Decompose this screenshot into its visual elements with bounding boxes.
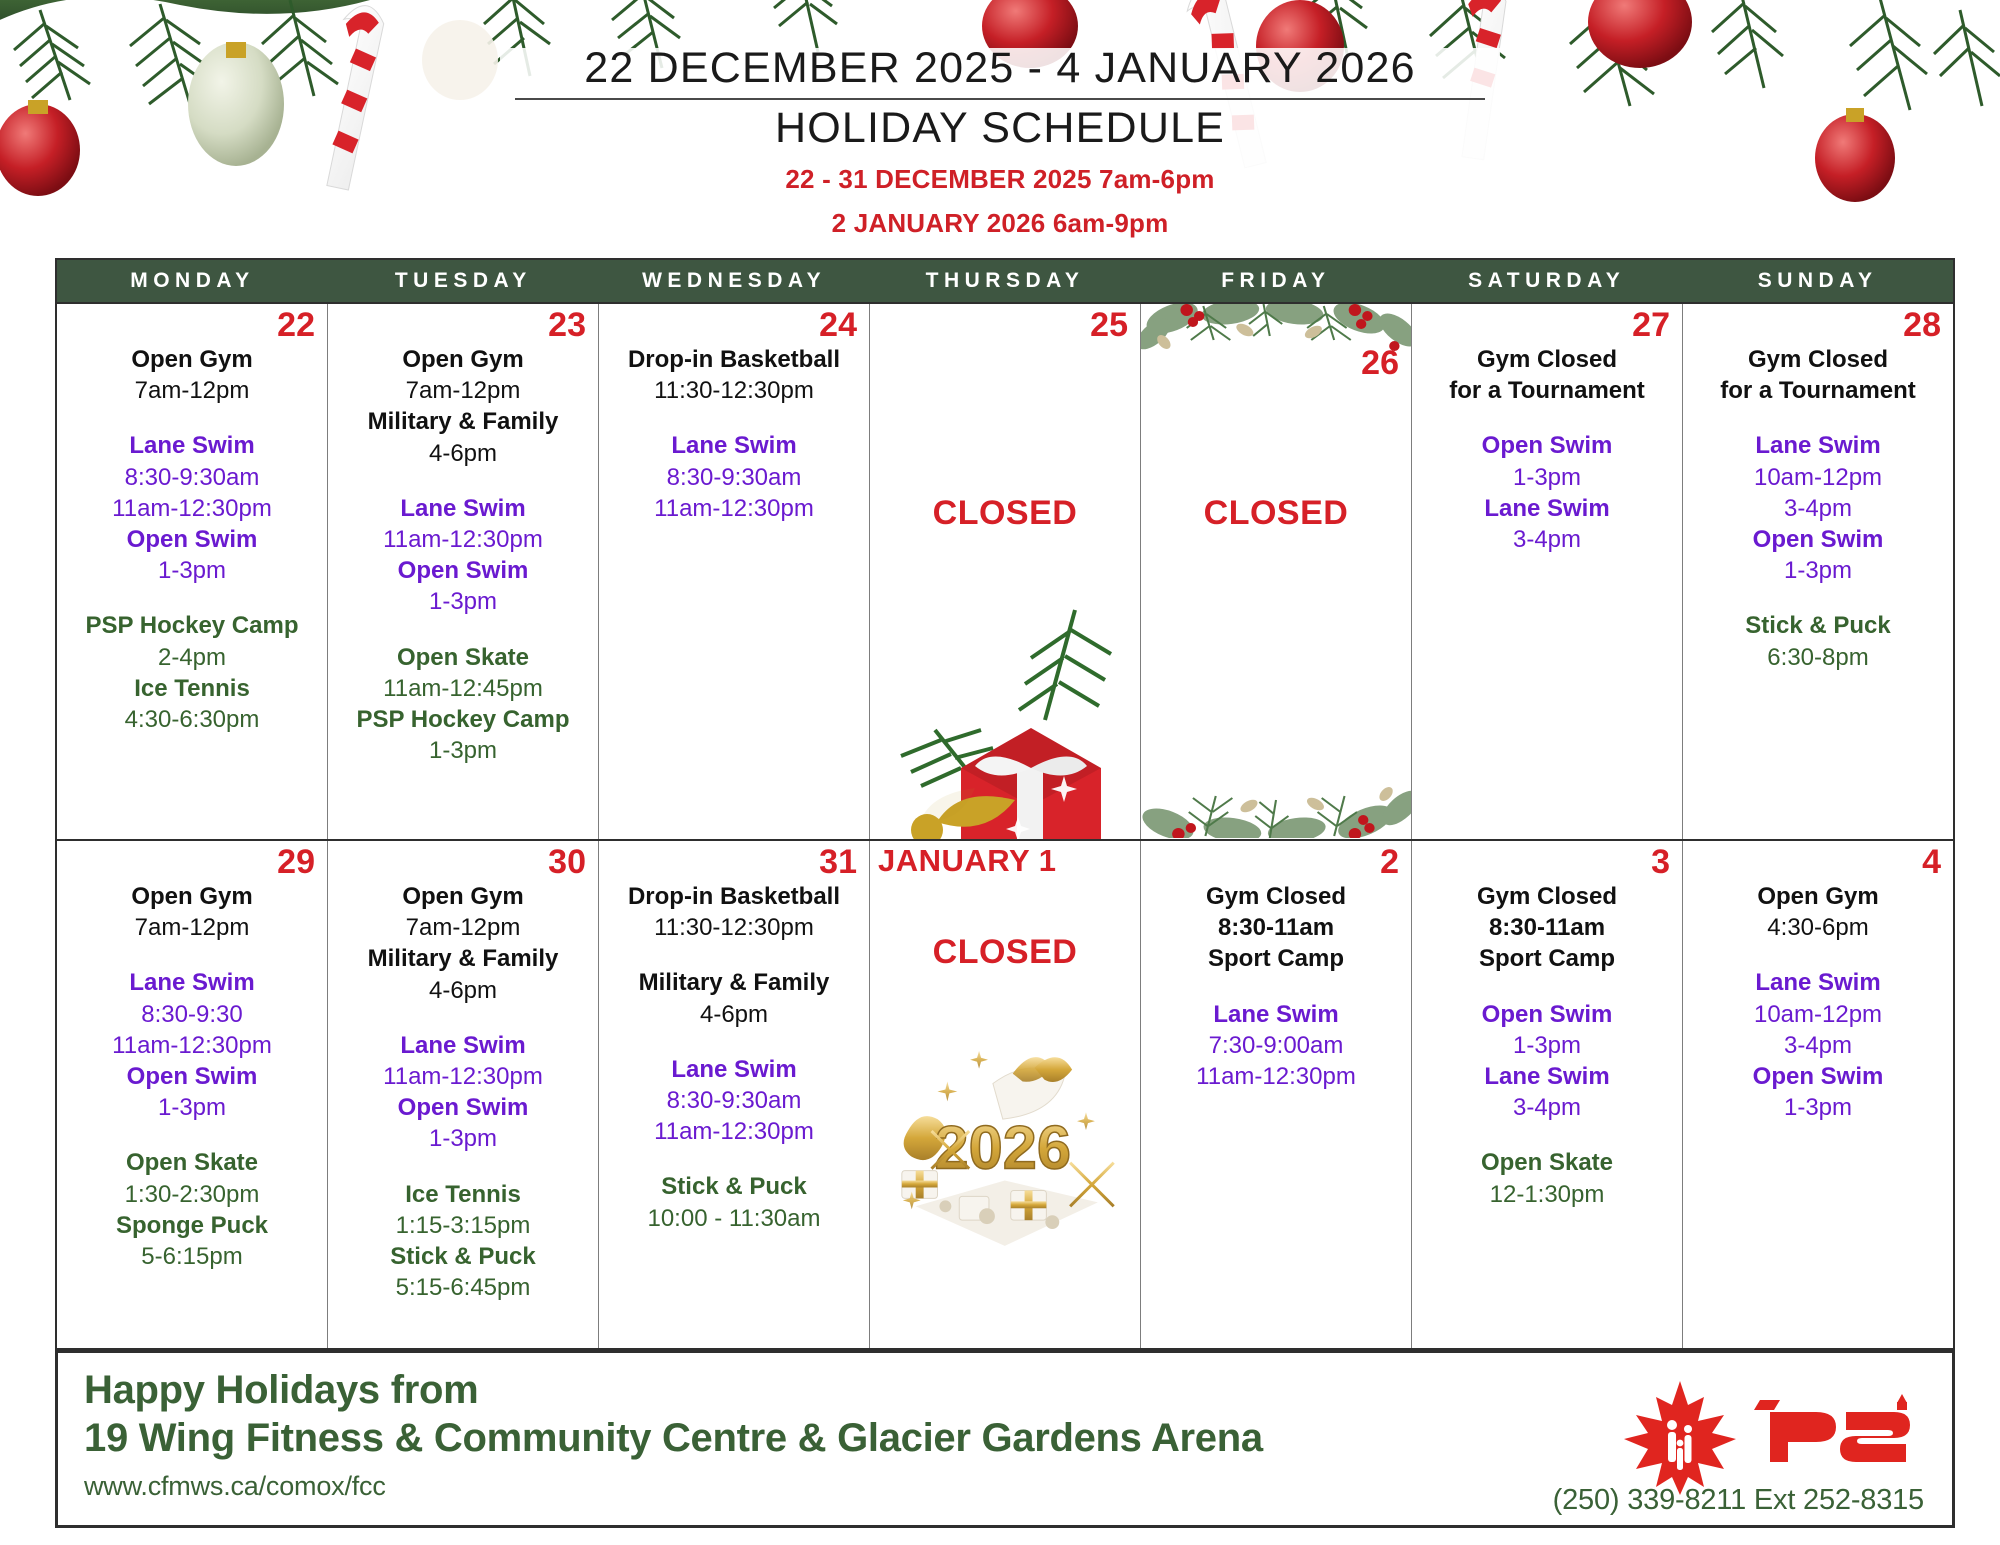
activity-spacer bbox=[1687, 943, 1949, 967]
activity-line: 8:30-9:30am bbox=[61, 462, 323, 493]
header-banner: 22 DECEMBER 2025 - 4 JANUARY 2026 HOLIDA… bbox=[0, 0, 2000, 258]
gym-activities: Open Gym7am-12pm bbox=[61, 881, 323, 943]
gym-activities: Drop-in Basketball11:30-12:30pm bbox=[603, 344, 865, 406]
activity-line: 8:30-11am bbox=[1416, 912, 1678, 943]
day-number: 26 bbox=[1361, 346, 1399, 382]
activity-line: Open Skate bbox=[61, 1147, 323, 1178]
activity-line: Open Swim bbox=[332, 1092, 594, 1123]
activity-spacer bbox=[603, 1030, 865, 1054]
closed-label: CLOSED bbox=[874, 344, 1136, 533]
activity-line: 1-3pm bbox=[332, 735, 594, 766]
calendar-day-cell[interactable]: 24Drop-in Basketball11:30-12:30pmLane Sw… bbox=[599, 304, 870, 839]
day-number: 23 bbox=[548, 308, 586, 344]
day-activities: Open Gym4:30-6pmLane Swim10am-12pm3-4pmO… bbox=[1687, 847, 1949, 1123]
activity-line: 1:30-2:30pm bbox=[61, 1179, 323, 1210]
activity-spacer bbox=[332, 1006, 594, 1030]
day-number: 25 bbox=[1090, 308, 1128, 344]
activity-spacer bbox=[603, 1147, 865, 1171]
activity-line: Military & Family bbox=[603, 967, 865, 998]
calendar-table: MONDAY TUESDAY WEDNESDAY THURSDAY FRIDAY… bbox=[55, 258, 1955, 1350]
gym-activities: Drop-in Basketball11:30-12:30pmMilitary … bbox=[603, 881, 865, 1030]
activity-line: 10am-12pm bbox=[1687, 462, 1949, 493]
activity-line: 3-4pm bbox=[1416, 1092, 1678, 1123]
date-range-title: 22 DECEMBER 2025 - 4 JANUARY 2026 bbox=[500, 42, 1500, 94]
new-year-2026-decoration: 2026 bbox=[886, 1011, 1124, 1266]
pool-activities: Open Swim1-3pmLane Swim3-4pm bbox=[1416, 430, 1678, 555]
day-number: 2 bbox=[1380, 845, 1399, 881]
activity-line: 4-6pm bbox=[332, 438, 594, 469]
gym-activities: Open Gym7am-12pm bbox=[61, 344, 323, 406]
activity-line: Military & Family bbox=[332, 943, 594, 974]
activity-line: 7am-12pm bbox=[61, 912, 323, 943]
activity-line: Gym Closed bbox=[1145, 881, 1407, 912]
day-number: 31 bbox=[819, 845, 857, 881]
activity-line: Open Gym bbox=[61, 881, 323, 912]
activity-spacer bbox=[1145, 975, 1407, 999]
activity-line: 3-4pm bbox=[1687, 1030, 1949, 1061]
day-activities: Gym Closed8:30-11amSport CampOpen Swim1-… bbox=[1416, 847, 1678, 1210]
activity-spacer bbox=[1416, 1123, 1678, 1147]
activity-line: 10am-12pm bbox=[1687, 999, 1949, 1030]
weekday-wednesday: WEDNESDAY bbox=[599, 260, 870, 302]
activity-line: Drop-in Basketball bbox=[603, 881, 865, 912]
day-number: JANUARY 1 bbox=[878, 845, 1057, 878]
arena-activities: Open Skate12-1:30pm bbox=[1416, 1147, 1678, 1209]
activity-line: Open Swim bbox=[61, 1061, 323, 1092]
activity-line: Open Skate bbox=[332, 642, 594, 673]
activity-line: Open Swim bbox=[1687, 1061, 1949, 1092]
activity-line: 1:15-3:15pm bbox=[332, 1210, 594, 1241]
day-activities: Open Gym7am-12pmMilitary & Family4-6pmLa… bbox=[332, 847, 594, 1303]
day-activities: Open Gym7am-12pmMilitary & Family4-6pmLa… bbox=[332, 310, 594, 766]
activity-line: 11am-12:30pm bbox=[603, 1116, 865, 1147]
activity-line: Gym Closed bbox=[1416, 344, 1678, 375]
activity-line: Lane Swim bbox=[61, 967, 323, 998]
activity-line: 7:30-9:00am bbox=[1145, 1030, 1407, 1061]
hours-line-december: 22 - 31 DECEMBER 2025 7am-6pm bbox=[500, 161, 1500, 199]
activity-line: 5-6:15pm bbox=[61, 1241, 323, 1272]
weekday-monday: MONDAY bbox=[57, 260, 328, 302]
activity-line: Lane Swim bbox=[1145, 999, 1407, 1030]
activity-spacer bbox=[1416, 975, 1678, 999]
day-activities: Gym Closed8:30-11amSport CampLane Swim7:… bbox=[1145, 847, 1407, 1092]
activity-line: Lane Swim bbox=[1416, 1061, 1678, 1092]
activity-spacer bbox=[332, 469, 594, 493]
activity-line: 4-6pm bbox=[332, 975, 594, 1006]
activity-line: 11:30-12:30pm bbox=[603, 375, 865, 406]
activity-line: 11am-12:30pm bbox=[332, 1061, 594, 1092]
day-activities: Open Gym7am-12pmLane Swim8:30-9:3011am-1… bbox=[61, 847, 323, 1272]
activity-line: Gym Closed bbox=[1687, 344, 1949, 375]
activity-line: Ice Tennis bbox=[61, 673, 323, 704]
activity-line: 1-3pm bbox=[1687, 555, 1949, 586]
activity-spacer bbox=[1416, 406, 1678, 430]
gym-activities: Open Gym4:30-6pm bbox=[1687, 881, 1949, 943]
activity-line: Open Swim bbox=[1416, 999, 1678, 1030]
activity-line: 7am-12pm bbox=[61, 375, 323, 406]
calendar-day-cell[interactable]: 3Gym Closed8:30-11amSport CampOpen Swim1… bbox=[1412, 841, 1683, 1348]
pool-activities: Lane Swim8:30-9:30am11am-12:30pmOpen Swi… bbox=[61, 430, 323, 586]
activity-line: Sponge Puck bbox=[61, 1210, 323, 1241]
arena-activities: Stick & Puck6:30-8pm bbox=[1687, 610, 1949, 672]
activity-line: Stick & Puck bbox=[332, 1241, 594, 1272]
title-block: 22 DECEMBER 2025 - 4 JANUARY 2026 HOLIDA… bbox=[500, 42, 1500, 242]
calendar-day-cell[interactable]: 31Drop-in Basketball11:30-12:30pmMilitar… bbox=[599, 841, 870, 1348]
activity-spacer bbox=[1687, 406, 1949, 430]
arena-activities: PSP Hockey Camp2-4pmIce Tennis4:30-6:30p… bbox=[61, 610, 323, 735]
activity-line: Sport Camp bbox=[1416, 943, 1678, 974]
footer-panel: Happy Holidays from 19 Wing Fitness & Co… bbox=[55, 1350, 1955, 1528]
pool-activities: Lane Swim10am-12pm3-4pmOpen Swim1-3pm bbox=[1687, 967, 1949, 1123]
activity-line: 1-3pm bbox=[1416, 1030, 1678, 1061]
activity-line: Lane Swim bbox=[603, 430, 865, 461]
calendar-day-cell[interactable]: 29Open Gym7am-12pmLane Swim8:30-9:3011am… bbox=[57, 841, 328, 1348]
pool-activities: Lane Swim10am-12pm3-4pmOpen Swim1-3pm bbox=[1687, 430, 1949, 586]
activity-line: 11:30-12:30pm bbox=[603, 912, 865, 943]
calendar-day-cell[interactable]: 23Open Gym7am-12pmMilitary & Family4-6pm… bbox=[328, 304, 599, 839]
activity-line: 4-6pm bbox=[603, 999, 865, 1030]
activity-line: Open Swim bbox=[61, 524, 323, 555]
pool-activities: Lane Swim7:30-9:00am11am-12:30pm bbox=[1145, 999, 1407, 1093]
calendar-day-cell[interactable]: 28Gym Closedfor a TournamentLane Swim10a… bbox=[1683, 304, 1953, 839]
activity-line: 11am-12:30pm bbox=[603, 493, 865, 524]
activity-line: Lane Swim bbox=[1687, 430, 1949, 461]
activity-line: Open Swim bbox=[332, 555, 594, 586]
page-title: HOLIDAY SCHEDULE bbox=[500, 102, 1500, 154]
day-activities: Drop-in Basketball11:30-12:30pmMilitary … bbox=[603, 847, 865, 1234]
day-number: 29 bbox=[277, 845, 315, 881]
gift-box-decoration bbox=[870, 600, 1130, 839]
hours-line-january: 2 JANUARY 2026 6am-9pm bbox=[500, 205, 1500, 243]
activity-line: for a Tournament bbox=[1416, 375, 1678, 406]
weekday-tuesday: TUESDAY bbox=[328, 260, 599, 302]
pool-activities: Lane Swim8:30-9:30am11am-12:30pm bbox=[603, 1054, 865, 1148]
activity-line: 1-3pm bbox=[61, 1092, 323, 1123]
activity-line: PSP Hockey Camp bbox=[332, 704, 594, 735]
activity-line: 1-3pm bbox=[332, 586, 594, 617]
activity-line: 2-4pm bbox=[61, 642, 323, 673]
activity-spacer bbox=[332, 618, 594, 642]
calendar-day-cell[interactable]: 4Open Gym4:30-6pmLane Swim10am-12pm3-4pm… bbox=[1683, 841, 1953, 1348]
activity-spacer bbox=[332, 1155, 594, 1179]
arena-activities: Ice Tennis1:15-3:15pmStick & Puck5:15-6:… bbox=[332, 1179, 594, 1304]
weekday-friday: FRIDAY bbox=[1140, 260, 1411, 302]
activity-line: 3-4pm bbox=[1416, 524, 1678, 555]
activity-line: 7am-12pm bbox=[332, 912, 594, 943]
gym-activities: Gym Closed8:30-11amSport Camp bbox=[1416, 881, 1678, 975]
gym-activities: Gym Closedfor a Tournament bbox=[1687, 344, 1949, 406]
activity-line: 5:15-6:45pm bbox=[332, 1272, 594, 1303]
weekday-thursday: THURSDAY bbox=[870, 260, 1141, 302]
activity-line: Drop-in Basketball bbox=[603, 344, 865, 375]
activity-line: Open Gym bbox=[1687, 881, 1949, 912]
activity-spacer bbox=[61, 406, 323, 430]
activity-line: 1-3pm bbox=[61, 555, 323, 586]
maple-leaf-family-icon bbox=[1620, 1377, 1740, 1502]
activity-line: 8:30-11am bbox=[1145, 912, 1407, 943]
svg-text:2026: 2026 bbox=[935, 1114, 1072, 1183]
weekday-header-row: MONDAY TUESDAY WEDNESDAY THURSDAY FRIDAY… bbox=[57, 260, 1953, 302]
pool-activities: Lane Swim11am-12:30pmOpen Swim1-3pm bbox=[332, 1030, 594, 1155]
pool-activities: Lane Swim11am-12:30pmOpen Swim1-3pm bbox=[332, 493, 594, 618]
closed-label: CLOSED bbox=[874, 881, 1136, 972]
activity-line: for a Tournament bbox=[1687, 375, 1949, 406]
activity-line: 1-3pm bbox=[1416, 462, 1678, 493]
gym-activities: Open Gym7am-12pmMilitary & Family4-6pm bbox=[332, 881, 594, 1006]
gym-activities: Open Gym7am-12pmMilitary & Family4-6pm bbox=[332, 344, 594, 469]
activity-spacer bbox=[1687, 586, 1949, 610]
activity-line: 11am-12:30pm bbox=[332, 524, 594, 555]
footer-logos bbox=[1620, 1377, 1924, 1502]
calendar-week-1: 22Open Gym7am-12pmLane Swim8:30-9:30am11… bbox=[57, 302, 1953, 839]
activity-line: Lane Swim bbox=[603, 1054, 865, 1085]
activity-line: Open Gym bbox=[332, 344, 594, 375]
calendar-day-cell[interactable]: 26CLOSED bbox=[1141, 304, 1412, 839]
activity-line: 1-3pm bbox=[1687, 1092, 1949, 1123]
activity-line: Open Swim bbox=[1416, 430, 1678, 461]
activity-line: 12-1:30pm bbox=[1416, 1179, 1678, 1210]
day-number: 22 bbox=[277, 308, 315, 344]
activity-spacer bbox=[603, 406, 865, 430]
day-activities: Open Gym7am-12pmLane Swim8:30-9:30am11am… bbox=[61, 310, 323, 735]
activity-line: 11am-12:30pm bbox=[61, 493, 323, 524]
day-activities: Gym Closedfor a TournamentLane Swim10am-… bbox=[1687, 310, 1949, 673]
activity-line: Sport Camp bbox=[1145, 943, 1407, 974]
activity-line: Open Gym bbox=[61, 344, 323, 375]
activity-line: 7am-12pm bbox=[332, 375, 594, 406]
holly-garland-bottom-decoration bbox=[1141, 738, 1411, 839]
weekday-saturday: SATURDAY bbox=[1411, 260, 1682, 302]
activity-line: Stick & Puck bbox=[603, 1171, 865, 1202]
activity-line: 11am-12:45pm bbox=[332, 673, 594, 704]
activity-line: 3-4pm bbox=[1687, 493, 1949, 524]
activity-line: 4:30-6pm bbox=[1687, 912, 1949, 943]
activity-line: Stick & Puck bbox=[1687, 610, 1949, 641]
title-divider bbox=[515, 98, 1485, 100]
activity-line: Lane Swim bbox=[1687, 967, 1949, 998]
arena-activities: Open Skate1:30-2:30pmSponge Puck5-6:15pm bbox=[61, 1147, 323, 1272]
activity-spacer bbox=[61, 586, 323, 610]
calendar-week-2: 29Open Gym7am-12pmLane Swim8:30-9:3011am… bbox=[57, 839, 1953, 1348]
calendar-day-cell[interactable]: 22Open Gym7am-12pmLane Swim8:30-9:30am11… bbox=[57, 304, 328, 839]
pool-activities: Open Swim1-3pmLane Swim3-4pm bbox=[1416, 999, 1678, 1124]
activity-line: 10:00 - 11:30am bbox=[603, 1203, 865, 1234]
activity-line: Ice Tennis bbox=[332, 1179, 594, 1210]
day-number: 4 bbox=[1922, 845, 1941, 881]
activity-line: 6:30-8pm bbox=[1687, 642, 1949, 673]
day-number: 30 bbox=[548, 845, 586, 881]
activity-line: 11am-12:30pm bbox=[61, 1030, 323, 1061]
gym-activities: Gym Closedfor a Tournament bbox=[1416, 344, 1678, 406]
gym-activities: Gym Closed8:30-11amSport Camp bbox=[1145, 881, 1407, 975]
activity-line: Open Swim bbox=[1687, 524, 1949, 555]
activity-line: 8:30-9:30am bbox=[603, 1085, 865, 1116]
day-number: 24 bbox=[819, 308, 857, 344]
activity-line: PSP Hockey Camp bbox=[61, 610, 323, 641]
day-number: 28 bbox=[1903, 308, 1941, 344]
arena-activities: Open Skate11am-12:45pmPSP Hockey Camp1-3… bbox=[332, 642, 594, 767]
activity-line: Military & Family bbox=[332, 406, 594, 437]
calendar-day-cell[interactable]: 30Open Gym7am-12pmMilitary & Family4-6pm… bbox=[328, 841, 599, 1348]
activity-line: 8:30-9:30 bbox=[61, 999, 323, 1030]
day-number: 27 bbox=[1632, 308, 1670, 344]
activity-spacer bbox=[61, 1123, 323, 1147]
activity-line: 11am-12:30pm bbox=[1145, 1061, 1407, 1092]
calendar-day-cell[interactable]: 2Gym Closed8:30-11amSport CampLane Swim7… bbox=[1141, 841, 1412, 1348]
activity-line: Lane Swim bbox=[61, 430, 323, 461]
activity-line: 1-3pm bbox=[332, 1123, 594, 1154]
day-number: 3 bbox=[1651, 845, 1670, 881]
psp-logo-icon bbox=[1754, 1390, 1924, 1490]
pool-activities: Lane Swim8:30-9:3011am-12:30pmOpen Swim1… bbox=[61, 967, 323, 1123]
activity-line: 4:30-6:30pm bbox=[61, 704, 323, 735]
pool-activities: Lane Swim8:30-9:30am11am-12:30pm bbox=[603, 430, 865, 524]
activity-spacer bbox=[61, 943, 323, 967]
activity-line: Lane Swim bbox=[1416, 493, 1678, 524]
day-activities: Gym Closedfor a TournamentOpen Swim1-3pm… bbox=[1416, 310, 1678, 555]
activity-line: Open Skate bbox=[1416, 1147, 1678, 1178]
calendar-day-cell[interactable]: 2026JANUARY 1CLOSED bbox=[870, 841, 1141, 1348]
activity-line: Lane Swim bbox=[332, 493, 594, 524]
calendar-day-cell[interactable]: 27Gym Closedfor a TournamentOpen Swim1-3… bbox=[1412, 304, 1683, 839]
activity-line: Gym Closed bbox=[1416, 881, 1678, 912]
weekday-sunday: SUNDAY bbox=[1682, 260, 1953, 302]
arena-activities: Stick & Puck10:00 - 11:30am bbox=[603, 1171, 865, 1233]
activity-line: Lane Swim bbox=[332, 1030, 594, 1061]
activity-line: Open Gym bbox=[332, 881, 594, 912]
calendar-day-cell[interactable]: 25CLOSED bbox=[870, 304, 1141, 839]
activity-line: 8:30-9:30am bbox=[603, 462, 865, 493]
